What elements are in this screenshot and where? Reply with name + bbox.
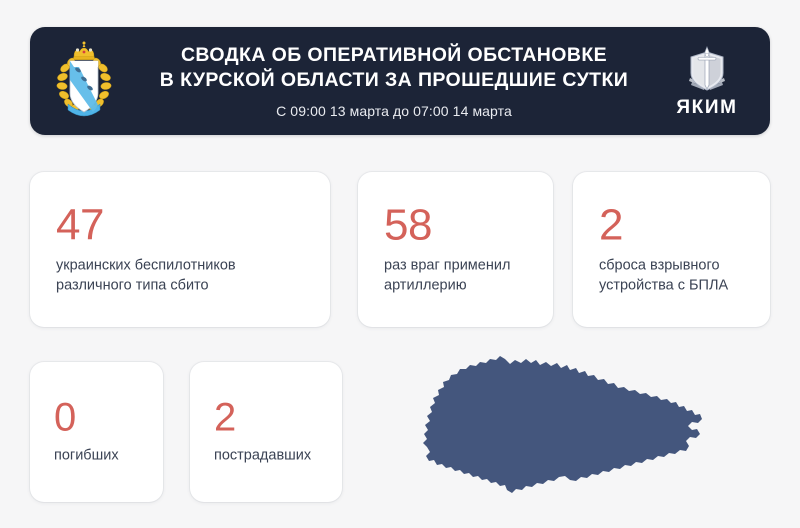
stat-label: сброса взрывного устройства с БПЛА xyxy=(599,255,756,295)
header-title-line-1: СВОДКА ОБ ОПЕРАТИВНОЙ ОБСТАНОВКЕ xyxy=(142,43,646,68)
stat-label: пострадавших xyxy=(214,446,328,466)
stat-number: 58 xyxy=(384,204,539,246)
stat-card-content: 47 украинских беспилотников различного т… xyxy=(56,204,316,295)
yakim-shield-sword-logo-icon xyxy=(685,45,729,95)
logo-slot: ЯКИМ xyxy=(650,27,770,135)
stat-card-drones: 47 украинских беспилотников различного т… xyxy=(30,172,330,327)
stat-label: раз враг применил артиллерию xyxy=(384,255,539,295)
stat-card-content: 0 погибших xyxy=(54,398,149,465)
stat-card-killed: 0 погибших xyxy=(30,362,163,502)
stat-card-injured: 2 пострадавших xyxy=(190,362,342,502)
stat-card-explosive-drops: 2 сброса взрывного устройства с БПЛА xyxy=(573,172,770,327)
stat-card-content: 2 сброса взрывного устройства с БПЛА xyxy=(599,204,756,295)
report-header: СВОДКА ОБ ОПЕРАТИВНОЙ ОБСТАНОВКЕ В КУРСК… xyxy=(30,27,770,135)
header-text-block: СВОДКА ОБ ОПЕРАТИВНОЙ ОБСТАНОВКЕ В КУРСК… xyxy=(138,43,650,120)
stat-number: 47 xyxy=(56,204,316,246)
kursk-oblast-map-silhouette-icon xyxy=(418,352,708,502)
emblem-slot xyxy=(30,27,138,135)
stat-label: украинских беспилотников различного типа… xyxy=(56,255,316,295)
stat-number: 2 xyxy=(214,398,328,436)
kursk-oblast-coat-of-arms-icon xyxy=(55,40,113,122)
header-period-subtitle: С 09:00 13 марта до 07:00 14 марта xyxy=(142,103,646,119)
stat-card-artillery: 58 раз враг применил артиллерию xyxy=(358,172,553,327)
logo-wordmark: ЯКИМ xyxy=(676,98,737,117)
report-page: СВОДКА ОБ ОПЕРАТИВНОЙ ОБСТАНОВКЕ В КУРСК… xyxy=(0,0,800,528)
stat-number: 2 xyxy=(599,204,756,246)
kursk-oblast-map xyxy=(418,352,708,502)
stat-card-content: 2 пострадавших xyxy=(214,398,328,465)
header-title-line-2: В КУРСКОЙ ОБЛАСТИ ЗА ПРОШЕДШИЕ СУТКИ xyxy=(142,68,646,93)
stat-card-content: 58 раз враг применил артиллерию xyxy=(384,204,539,295)
stat-label: погибших xyxy=(54,446,149,466)
stat-number: 0 xyxy=(54,398,149,436)
